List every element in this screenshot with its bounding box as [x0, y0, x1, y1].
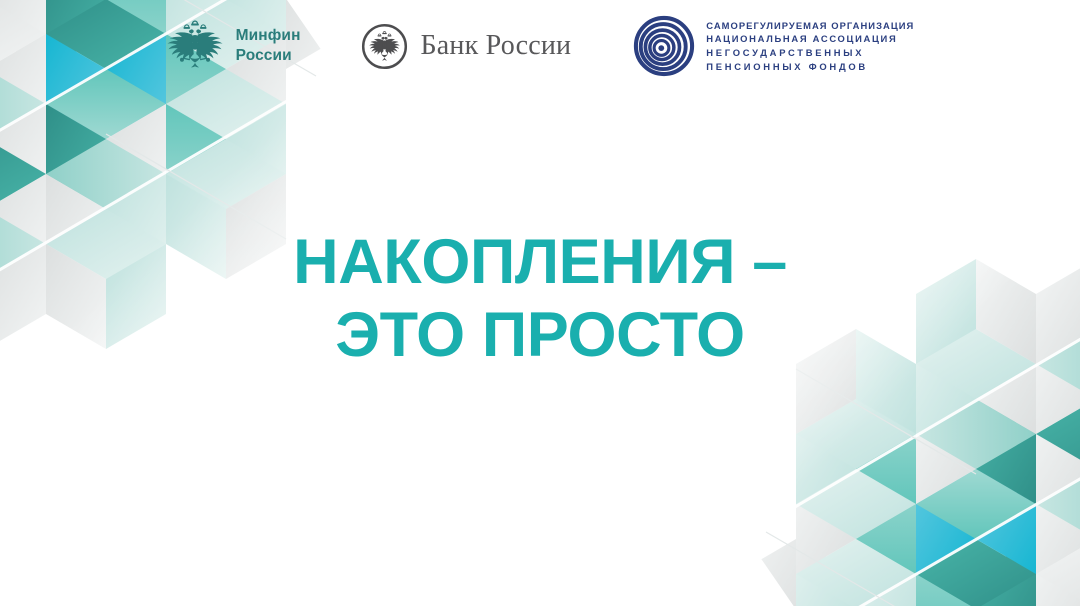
logo-minfin-wordmark: Минфин России — [236, 26, 301, 66]
slide-title: НАКОПЛЕНИЯ – ЭТО ПРОСТО — [0, 226, 1080, 372]
logo-napf-line-3: НЕГОСУДАРСТВЕННЫХ — [706, 46, 914, 60]
logo-napf-line-4: ПЕНСИОННЫХ ФОНДОВ — [706, 60, 914, 74]
logo-bank-of-russia: Банк России — [361, 23, 572, 70]
logo-napf-line-1: САМОРЕГУЛИРУЕМАЯ ОРГАНИЗАЦИЯ — [706, 19, 914, 33]
logo-napf-wordmark: САМОРЕГУЛИРУЕМАЯ ОРГАНИЗАЦИЯ НАЦИОНАЛЬНА… — [706, 19, 914, 74]
logo-minfin-line-2: России — [236, 46, 301, 66]
logo-napf-line-2: НАЦИОНАЛЬНАЯ АССОЦИАЦИЯ — [706, 32, 914, 46]
slide-title-line-1: НАКОПЛЕНИЯ – — [0, 226, 1080, 299]
bank-of-russia-eagle-emblem-icon — [361, 23, 408, 70]
slide-title-line-2: ЭТО ПРОСТО — [0, 299, 1080, 372]
logo-bar: Минфин России — [0, 0, 1080, 92]
logo-minfin: Минфин России — [166, 17, 301, 75]
double-headed-eagle-emblem-icon — [166, 17, 224, 75]
concentric-spiral-emblem-icon — [633, 15, 695, 77]
logo-minfin-line-1: Минфин — [236, 26, 301, 46]
presentation-slide: Минфин России — [0, 0, 1080, 606]
logo-bank-of-russia-wordmark: Банк России — [421, 32, 572, 60]
logo-napf: САМОРЕГУЛИРУЕМАЯ ОРГАНИЗАЦИЯ НАЦИОНАЛЬНА… — [633, 15, 914, 77]
